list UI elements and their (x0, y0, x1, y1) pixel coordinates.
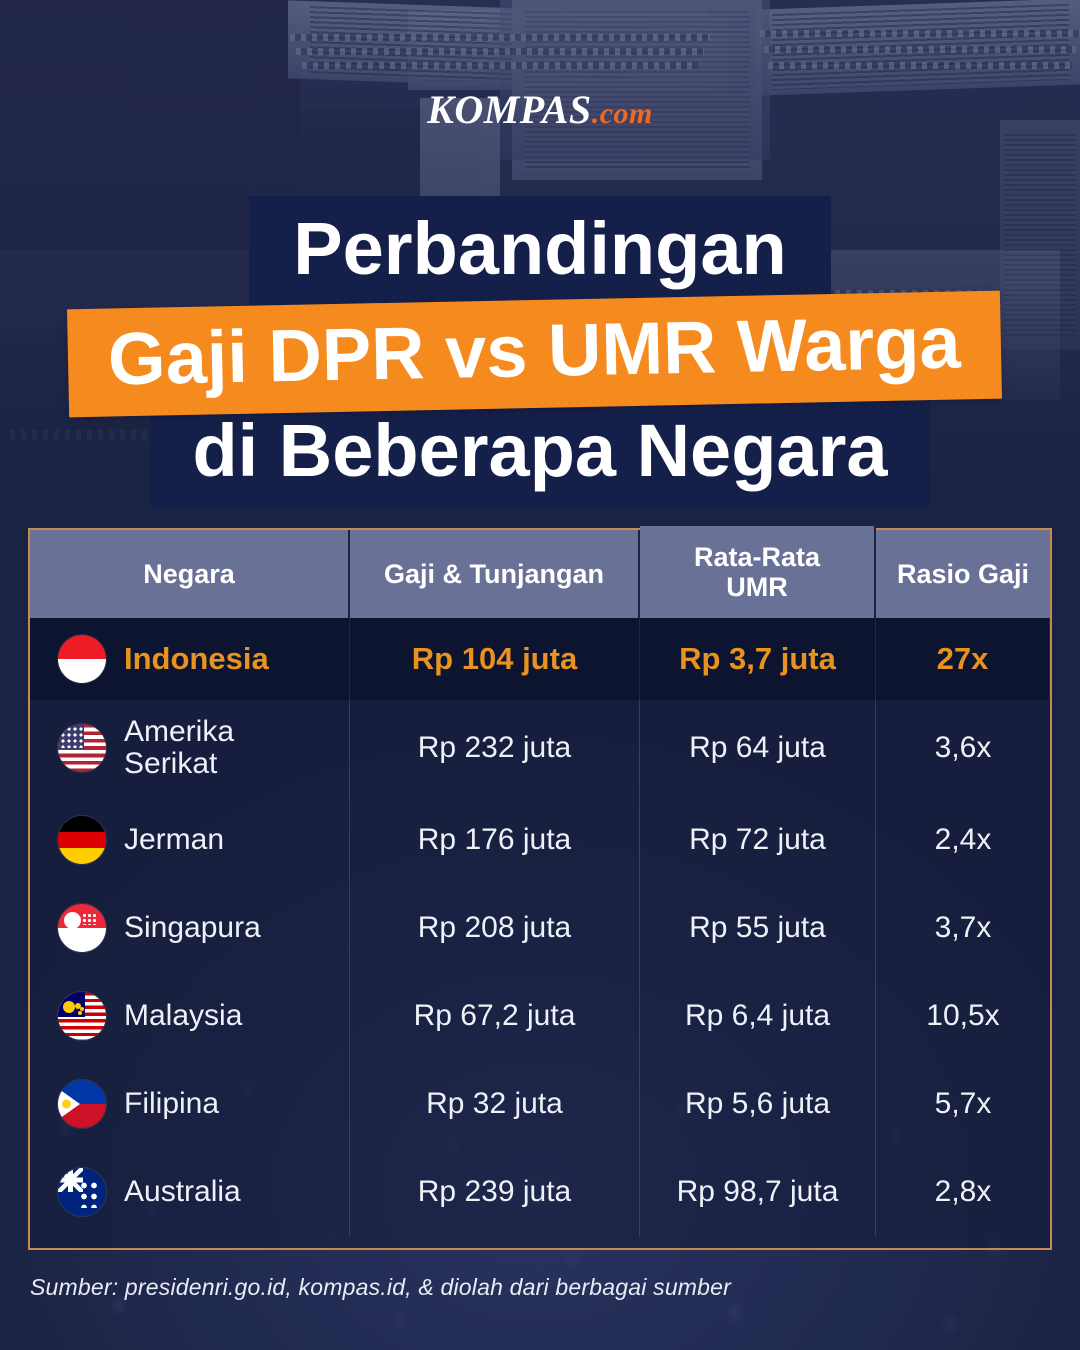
philippines-flag-icon (58, 1080, 106, 1128)
table-row: Jerman Rp 176 juta Rp 72 juta 2,4x (30, 796, 1050, 884)
cell-umr: Rp 3,7 juta (640, 618, 876, 700)
country-name: Jerman (124, 824, 224, 856)
malaysia-flag-icon (58, 992, 106, 1040)
cell-gaji: Rp 32 juta (350, 1060, 640, 1148)
cell-country: Singapura (30, 884, 350, 972)
column-header-rata-rata-umr: Rata-Rata UMR (640, 526, 876, 618)
germany-flag-icon (58, 816, 106, 864)
kompas-logo: KOMPAS.com (0, 86, 1080, 133)
country-name-line1: Amerika (124, 715, 234, 748)
cell-umr: Rp 6,4 juta (640, 972, 876, 1060)
title-line1-wrap: Perbandingan (0, 196, 1080, 306)
column-header-gaji-tunjangan: Gaji & Tunjangan (350, 530, 640, 618)
cell-gaji: Rp 232 juta (350, 700, 640, 796)
country-name: Indonesia (124, 642, 269, 675)
header-umr-line2: UMR (726, 572, 788, 602)
cell-umr: Rp 55 juta (640, 884, 876, 972)
table-row: Malaysia Rp 67,2 juta Rp 6,4 juta 10,5x (30, 972, 1050, 1060)
cell-rasio: 2,8x (876, 1148, 1050, 1236)
table-row: Australia Rp 239 juta Rp 98,7 juta 2,8x (30, 1148, 1050, 1236)
cell-gaji: Rp 208 juta (350, 884, 640, 972)
table-row: Amerika Serikat Rp 232 juta Rp 64 juta 3… (30, 700, 1050, 796)
cell-gaji: Rp 239 juta (350, 1148, 640, 1236)
cell-rasio: 27x (876, 618, 1050, 700)
title-block: Perbandingan Gaji DPR vs UMR Warga di Be… (0, 196, 1080, 508)
title-line2-highlight: Gaji DPR vs UMR Warga (67, 291, 1002, 418)
title-line1: Perbandingan (249, 196, 830, 306)
cell-country: Filipina (30, 1060, 350, 1148)
brand-suffix: .com (592, 97, 653, 130)
cell-rasio: 3,7x (876, 884, 1050, 972)
table-row: Filipina Rp 32 juta Rp 5,6 juta 5,7x (30, 1060, 1050, 1148)
cell-country: Indonesia (30, 618, 350, 700)
brand-name: KOMPAS (427, 87, 592, 132)
country-name: Amerika Serikat (124, 716, 234, 781)
cell-umr: Rp 64 juta (640, 700, 876, 796)
country-name: Singapura (124, 912, 261, 944)
cell-rasio: 10,5x (876, 972, 1050, 1060)
cell-umr: Rp 5,6 juta (640, 1060, 876, 1148)
usa-flag-icon (58, 724, 106, 772)
column-header-negara: Negara (30, 530, 350, 618)
cell-country: Jerman (30, 796, 350, 884)
cell-rasio: 5,7x (876, 1060, 1050, 1148)
title-line3-wrap: di Beberapa Negara (0, 400, 1080, 508)
table-row: Singapura Rp 208 juta Rp 55 juta 3,7x (30, 884, 1050, 972)
header-umr-line1: Rata-Rata (694, 542, 820, 572)
cell-gaji: Rp 104 juta (350, 618, 640, 700)
table-header-row: Negara Gaji & Tunjangan Rata-Rata UMR Ra… (30, 530, 1050, 618)
cell-gaji: Rp 67,2 juta (350, 972, 640, 1060)
country-name: Filipina (124, 1088, 219, 1120)
comparison-table: Negara Gaji & Tunjangan Rata-Rata UMR Ra… (28, 528, 1052, 1250)
country-name-line2: Serikat (124, 747, 217, 780)
australia-flag-icon (58, 1168, 106, 1216)
column-header-rasio-gaji: Rasio Gaji (876, 530, 1050, 618)
cell-country: Amerika Serikat (30, 700, 350, 796)
indonesia-flag-icon (58, 635, 106, 683)
cell-rasio: 3,6x (876, 700, 1050, 796)
cell-umr: Rp 72 juta (640, 796, 876, 884)
title-line2-wrap: Gaji DPR vs UMR Warga (0, 300, 1080, 408)
cell-gaji: Rp 176 juta (350, 796, 640, 884)
country-name: Australia (124, 1176, 241, 1208)
cell-umr: Rp 98,7 juta (640, 1148, 876, 1236)
table-row: Indonesia Rp 104 juta Rp 3,7 juta 27x (30, 618, 1050, 700)
cell-country: Australia (30, 1148, 350, 1236)
source-caption: Sumber: presidenri.go.id, kompas.id, & d… (30, 1274, 731, 1301)
country-name: Malaysia (124, 1000, 242, 1032)
cell-country: Malaysia (30, 972, 350, 1060)
cell-rasio: 2,4x (876, 796, 1050, 884)
title-line3: di Beberapa Negara (150, 400, 929, 508)
singapore-flag-icon (58, 904, 106, 952)
